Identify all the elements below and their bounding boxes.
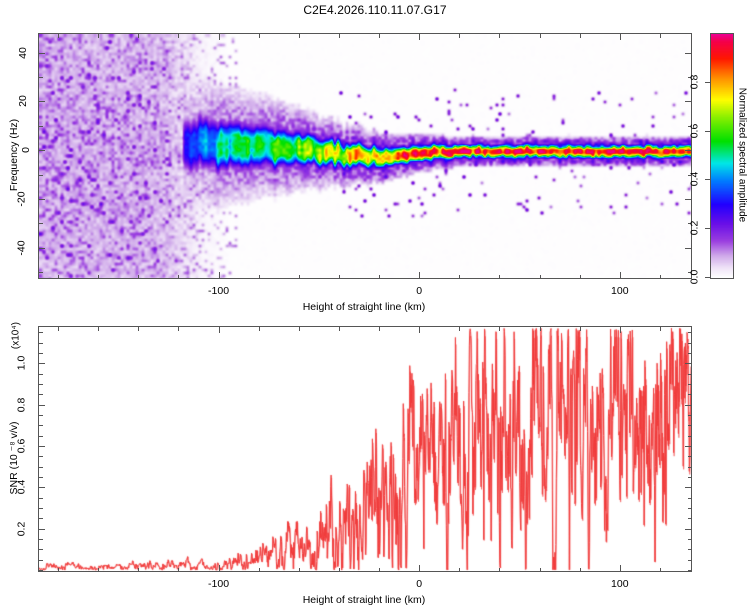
tick-mark — [688, 456, 692, 457]
tick-mark — [39, 487, 45, 488]
tick-mark — [58, 327, 59, 331]
tick-label: -100 — [208, 578, 229, 590]
tick-label: 20 — [17, 95, 29, 107]
tick-mark — [39, 77, 43, 78]
tick-mark — [58, 275, 59, 279]
tick-mark — [419, 34, 420, 40]
tick-label: -40 — [15, 240, 27, 255]
tick-mark — [138, 34, 139, 38]
tick-mark — [138, 327, 139, 331]
tick-mark — [219, 34, 220, 40]
colorbar-tick-mark — [705, 228, 710, 229]
tick-mark — [339, 568, 340, 572]
spectrogram-ylabel: Frequency (Hz) — [8, 119, 20, 191]
tick-mark — [379, 568, 380, 572]
tick-mark — [685, 101, 691, 102]
tick-mark — [178, 327, 179, 331]
tick-mark — [39, 332, 43, 333]
tick-mark — [540, 34, 541, 38]
tick-mark — [660, 34, 661, 38]
tick-label: 0.2 — [16, 521, 28, 536]
tick-mark — [688, 570, 692, 571]
tick-label: 0 — [416, 578, 422, 590]
tick-mark — [499, 568, 500, 572]
tick-mark — [685, 487, 691, 488]
tick-label: 1.0 — [16, 356, 28, 371]
tick-mark — [688, 549, 692, 550]
tick-mark — [39, 405, 45, 406]
tick-label: 100 — [611, 285, 629, 297]
tick-mark — [688, 436, 692, 437]
tick-mark — [685, 529, 691, 530]
tick-mark — [339, 327, 340, 331]
tick-mark — [499, 275, 500, 279]
tick-mark — [259, 34, 260, 38]
colorbar-tick-label: 0.4 — [689, 172, 701, 187]
tick-mark — [39, 508, 43, 509]
snr-axis-multiplier: (x10⁴) — [11, 322, 22, 349]
tick-mark — [580, 327, 581, 331]
tick-mark — [419, 272, 420, 278]
tick-mark — [39, 425, 43, 426]
tick-mark — [39, 467, 43, 468]
tick-mark — [39, 529, 45, 530]
tick-label: 0 — [416, 285, 422, 297]
tick-mark — [688, 384, 692, 385]
tick-mark — [98, 568, 99, 572]
tick-mark — [499, 34, 500, 38]
tick-mark — [688, 425, 692, 426]
tick-label: -20 — [15, 191, 27, 206]
colorbar-tick-label: 0.6 — [689, 123, 701, 138]
tick-mark — [379, 34, 380, 38]
tick-mark — [259, 327, 260, 331]
tick-mark — [58, 34, 59, 38]
tick-mark — [688, 374, 692, 375]
tick-mark — [299, 327, 300, 331]
tick-mark — [419, 565, 420, 571]
tick-mark — [39, 456, 43, 457]
tick-mark — [98, 327, 99, 331]
tick-mark — [259, 275, 260, 279]
tick-mark — [685, 405, 691, 406]
tick-mark — [39, 498, 43, 499]
tick-mark — [688, 467, 692, 468]
tick-mark — [98, 275, 99, 279]
tick-mark — [685, 446, 691, 447]
tick-mark — [39, 272, 43, 273]
tick-mark — [39, 363, 45, 364]
tick-mark — [138, 275, 139, 279]
tick-mark — [499, 327, 500, 331]
tick-mark — [219, 565, 220, 571]
tick-mark — [259, 568, 260, 572]
tick-mark — [299, 34, 300, 38]
colorbar-tick-mark — [705, 82, 710, 83]
tick-mark — [580, 34, 581, 38]
snr-plot-area — [38, 326, 692, 572]
tick-label: -100 — [208, 285, 229, 297]
colorbar-area — [710, 33, 734, 279]
tick-mark — [540, 327, 541, 331]
tick-mark — [178, 34, 179, 38]
tick-mark — [39, 539, 43, 540]
tick-mark — [685, 53, 691, 54]
spectrogram-plot-area — [38, 33, 692, 279]
tick-mark — [39, 415, 43, 416]
tick-mark — [219, 272, 220, 278]
tick-label: 0 — [20, 147, 32, 153]
tick-mark — [339, 275, 340, 279]
tick-mark — [39, 477, 43, 478]
tick-mark — [39, 570, 43, 571]
tick-mark — [39, 175, 43, 176]
tick-mark — [685, 248, 691, 249]
tick-mark — [39, 446, 45, 447]
colorbar-tick-label: 0.2 — [689, 221, 701, 236]
tick-label: 0.8 — [16, 397, 28, 412]
tick-mark — [39, 436, 43, 437]
tick-mark — [39, 549, 43, 550]
snr-canvas — [39, 327, 691, 571]
tick-mark — [39, 343, 43, 344]
tick-mark — [39, 384, 43, 385]
tick-mark — [379, 327, 380, 331]
tick-mark — [39, 126, 43, 127]
tick-mark — [688, 477, 692, 478]
colorbar-tick-label: 0.0 — [689, 270, 701, 285]
tick-mark — [219, 327, 220, 333]
spectrogram-canvas — [39, 34, 691, 278]
tick-mark — [688, 560, 692, 561]
spectrogram-xlabel: Height of straight line (km) — [303, 301, 426, 313]
tick-mark — [660, 327, 661, 331]
tick-mark — [580, 275, 581, 279]
tick-mark — [688, 343, 692, 344]
figure-root: C2E4.2026.110.11.07.G17 -100010040200-20… — [0, 0, 750, 600]
tick-mark — [419, 327, 420, 333]
colorbar-tick-mark — [705, 179, 710, 180]
colorbar-gradient — [711, 34, 733, 278]
tick-mark — [688, 498, 692, 499]
tick-mark — [660, 275, 661, 279]
colorbar-tick-mark — [705, 131, 710, 132]
tick-mark — [459, 327, 460, 331]
tick-mark — [58, 568, 59, 572]
tick-mark — [459, 568, 460, 572]
tick-mark — [685, 363, 691, 364]
tick-mark — [39, 199, 45, 200]
colorbar-tick-label: 0.8 — [689, 74, 701, 89]
tick-mark — [39, 518, 43, 519]
tick-mark — [39, 223, 43, 224]
tick-mark — [39, 560, 43, 561]
tick-mark — [688, 518, 692, 519]
colorbar-tick-mark — [705, 277, 710, 278]
snr-xlabel: Height of straight line (km) — [303, 594, 426, 606]
tick-mark — [620, 272, 621, 278]
tick-mark — [620, 34, 621, 40]
tick-mark — [459, 34, 460, 38]
tick-mark — [39, 353, 43, 354]
tick-mark — [299, 275, 300, 279]
tick-mark — [98, 34, 99, 38]
tick-mark — [379, 275, 380, 279]
tick-mark — [688, 508, 692, 509]
tick-mark — [688, 415, 692, 416]
tick-mark — [178, 568, 179, 572]
snr-ylabel: SNR (10 ⁻⁸ v/v) — [8, 422, 20, 495]
tick-mark — [459, 275, 460, 279]
tick-mark — [39, 101, 45, 102]
tick-label: 100 — [611, 578, 629, 590]
colorbar-label: Normalized spectral amplitude — [737, 88, 748, 223]
tick-mark — [580, 568, 581, 572]
figure-title: C2E4.2026.110.11.07.G17 — [0, 3, 750, 17]
tick-mark — [540, 275, 541, 279]
tick-mark — [660, 568, 661, 572]
tick-label: 40 — [17, 47, 29, 59]
tick-mark — [299, 568, 300, 572]
tick-mark — [620, 327, 621, 333]
tick-mark — [178, 275, 179, 279]
tick-mark — [39, 394, 43, 395]
tick-mark — [39, 248, 45, 249]
tick-mark — [540, 568, 541, 572]
tick-mark — [688, 353, 692, 354]
tick-mark — [685, 199, 691, 200]
tick-mark — [685, 150, 691, 151]
tick-mark — [620, 565, 621, 571]
tick-mark — [688, 394, 692, 395]
tick-mark — [688, 539, 692, 540]
tick-mark — [339, 34, 340, 38]
tick-mark — [39, 374, 43, 375]
tick-mark — [138, 568, 139, 572]
tick-mark — [39, 150, 45, 151]
tick-mark — [39, 53, 45, 54]
tick-mark — [688, 332, 692, 333]
